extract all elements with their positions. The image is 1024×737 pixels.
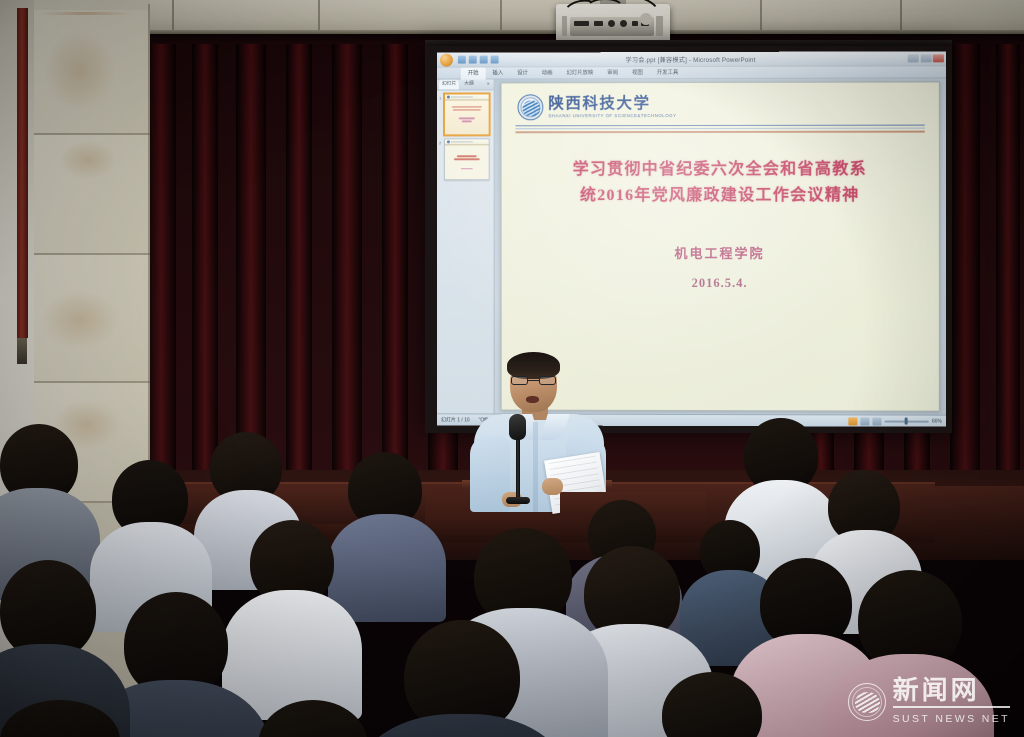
wall-panel bbox=[34, 135, 150, 255]
ribbon-tab-view[interactable]: 视图 bbox=[625, 67, 650, 79]
ribbon-tab-slideshow[interactable]: 幻灯片放映 bbox=[559, 67, 600, 79]
ceiling bbox=[0, 0, 1024, 34]
speaker-hair bbox=[507, 352, 560, 379]
zoom-slider-handle[interactable] bbox=[905, 418, 908, 425]
slide-number: 2 bbox=[439, 140, 441, 145]
ribbon-tab-developer[interactable]: 开发工具 bbox=[650, 67, 686, 79]
university-seal-icon bbox=[517, 94, 543, 120]
minimize-button[interactable] bbox=[908, 54, 919, 62]
wall-corner-line bbox=[148, 4, 150, 504]
slide-title-line1: 学习贯彻中省纪委六次全会和省高教系 bbox=[523, 156, 916, 183]
ribbon-tab-insert[interactable]: 插入 bbox=[485, 67, 510, 79]
close-panel-icon[interactable]: × bbox=[487, 81, 492, 87]
slide-title-line2: 统2016年党风廉政建设工作会议精神 bbox=[523, 183, 916, 210]
wall-panel bbox=[34, 255, 150, 383]
slide-logo-row: 陕西科技大学 SHAANXI UNIVERSITY OF SCIENCE&TEC… bbox=[502, 82, 939, 120]
ppt-titlebar: 学习会.ppt [兼容模式] - Microsoft PowerPoint bbox=[437, 51, 946, 67]
normal-view-icon[interactable] bbox=[848, 417, 857, 425]
logo-dot-icon bbox=[447, 140, 450, 143]
wall-strip-clip bbox=[17, 338, 27, 364]
tab-outline[interactable]: 大纲 bbox=[461, 80, 477, 90]
zoom-level-label: 66% bbox=[932, 418, 942, 424]
slide-sorter-icon[interactable] bbox=[860, 417, 869, 425]
restore-button[interactable] bbox=[920, 54, 931, 62]
slide-divider-blue bbox=[515, 125, 924, 127]
news-watermark: 新闻网 SUST NEWS NET bbox=[848, 678, 1010, 725]
slide-date: 2016.5.4. bbox=[502, 276, 939, 291]
watermark-text-cn: 新闻网 bbox=[893, 678, 1010, 704]
slide-divider-thin bbox=[515, 128, 924, 130]
close-button[interactable] bbox=[933, 54, 944, 62]
watermark-text-en: SUST NEWS NET bbox=[893, 713, 1010, 725]
ribbon-tab-design[interactable]: 设计 bbox=[510, 67, 535, 79]
window-controls[interactable] bbox=[908, 54, 944, 62]
wall-red-strip bbox=[17, 8, 28, 338]
microphone-head bbox=[509, 414, 526, 440]
microphone-base bbox=[506, 497, 530, 504]
speaker-mouth bbox=[526, 396, 539, 403]
speaker-shirt-placket bbox=[533, 422, 538, 512]
university-name-cn: 陕西科技大学 bbox=[548, 96, 676, 113]
ceiling-seam bbox=[500, 0, 502, 34]
logo-dot-icon bbox=[447, 96, 450, 99]
sust-news-seal-icon bbox=[848, 683, 886, 721]
university-name-en: SHAANXI UNIVERSITY OF SCIENCE&TECHNOLOGY bbox=[548, 113, 676, 118]
slideshow-icon[interactable] bbox=[872, 417, 881, 425]
sidebar-tabs[interactable]: 幻灯片 大纲 × bbox=[437, 79, 494, 90]
ceiling-seam bbox=[172, 0, 174, 34]
ribbon-tab-review[interactable]: 审阅 bbox=[600, 67, 625, 79]
watermark-underline bbox=[893, 706, 1010, 708]
zoom-slider[interactable] bbox=[885, 420, 929, 422]
speaker-figure bbox=[466, 352, 616, 512]
ceiling-seam bbox=[760, 0, 762, 34]
ribbon-tab-home[interactable]: 开始 bbox=[461, 67, 486, 79]
slide-divider-red bbox=[515, 131, 924, 133]
photo-scene: 学习会.ppt [兼容模式] - Microsoft PowerPoint 开始… bbox=[0, 0, 1024, 737]
slide-department: 机电工程学院 bbox=[502, 243, 939, 262]
wall-panel bbox=[34, 10, 150, 135]
slide-title: 学习贯彻中省纪委六次全会和省高教系 统2016年党风廉政建设工作会议精神 bbox=[523, 156, 916, 209]
tab-slides[interactable]: 幻灯片 bbox=[439, 80, 459, 90]
slide-number: 1 bbox=[439, 96, 441, 101]
ceiling-seam bbox=[318, 0, 320, 34]
ceiling-seam bbox=[900, 0, 902, 34]
ppt-window-title: 学习会.ppt [兼容模式] - Microsoft PowerPoint bbox=[437, 54, 946, 64]
speaker-glasses bbox=[511, 376, 556, 385]
slide-thumbnail[interactable]: 1 bbox=[444, 93, 490, 135]
slide-thumbnail[interactable]: 2 bbox=[444, 138, 490, 180]
ribbon-tab-animations[interactable]: 动画 bbox=[535, 67, 560, 79]
status-view-controls[interactable]: 66% bbox=[848, 417, 942, 425]
